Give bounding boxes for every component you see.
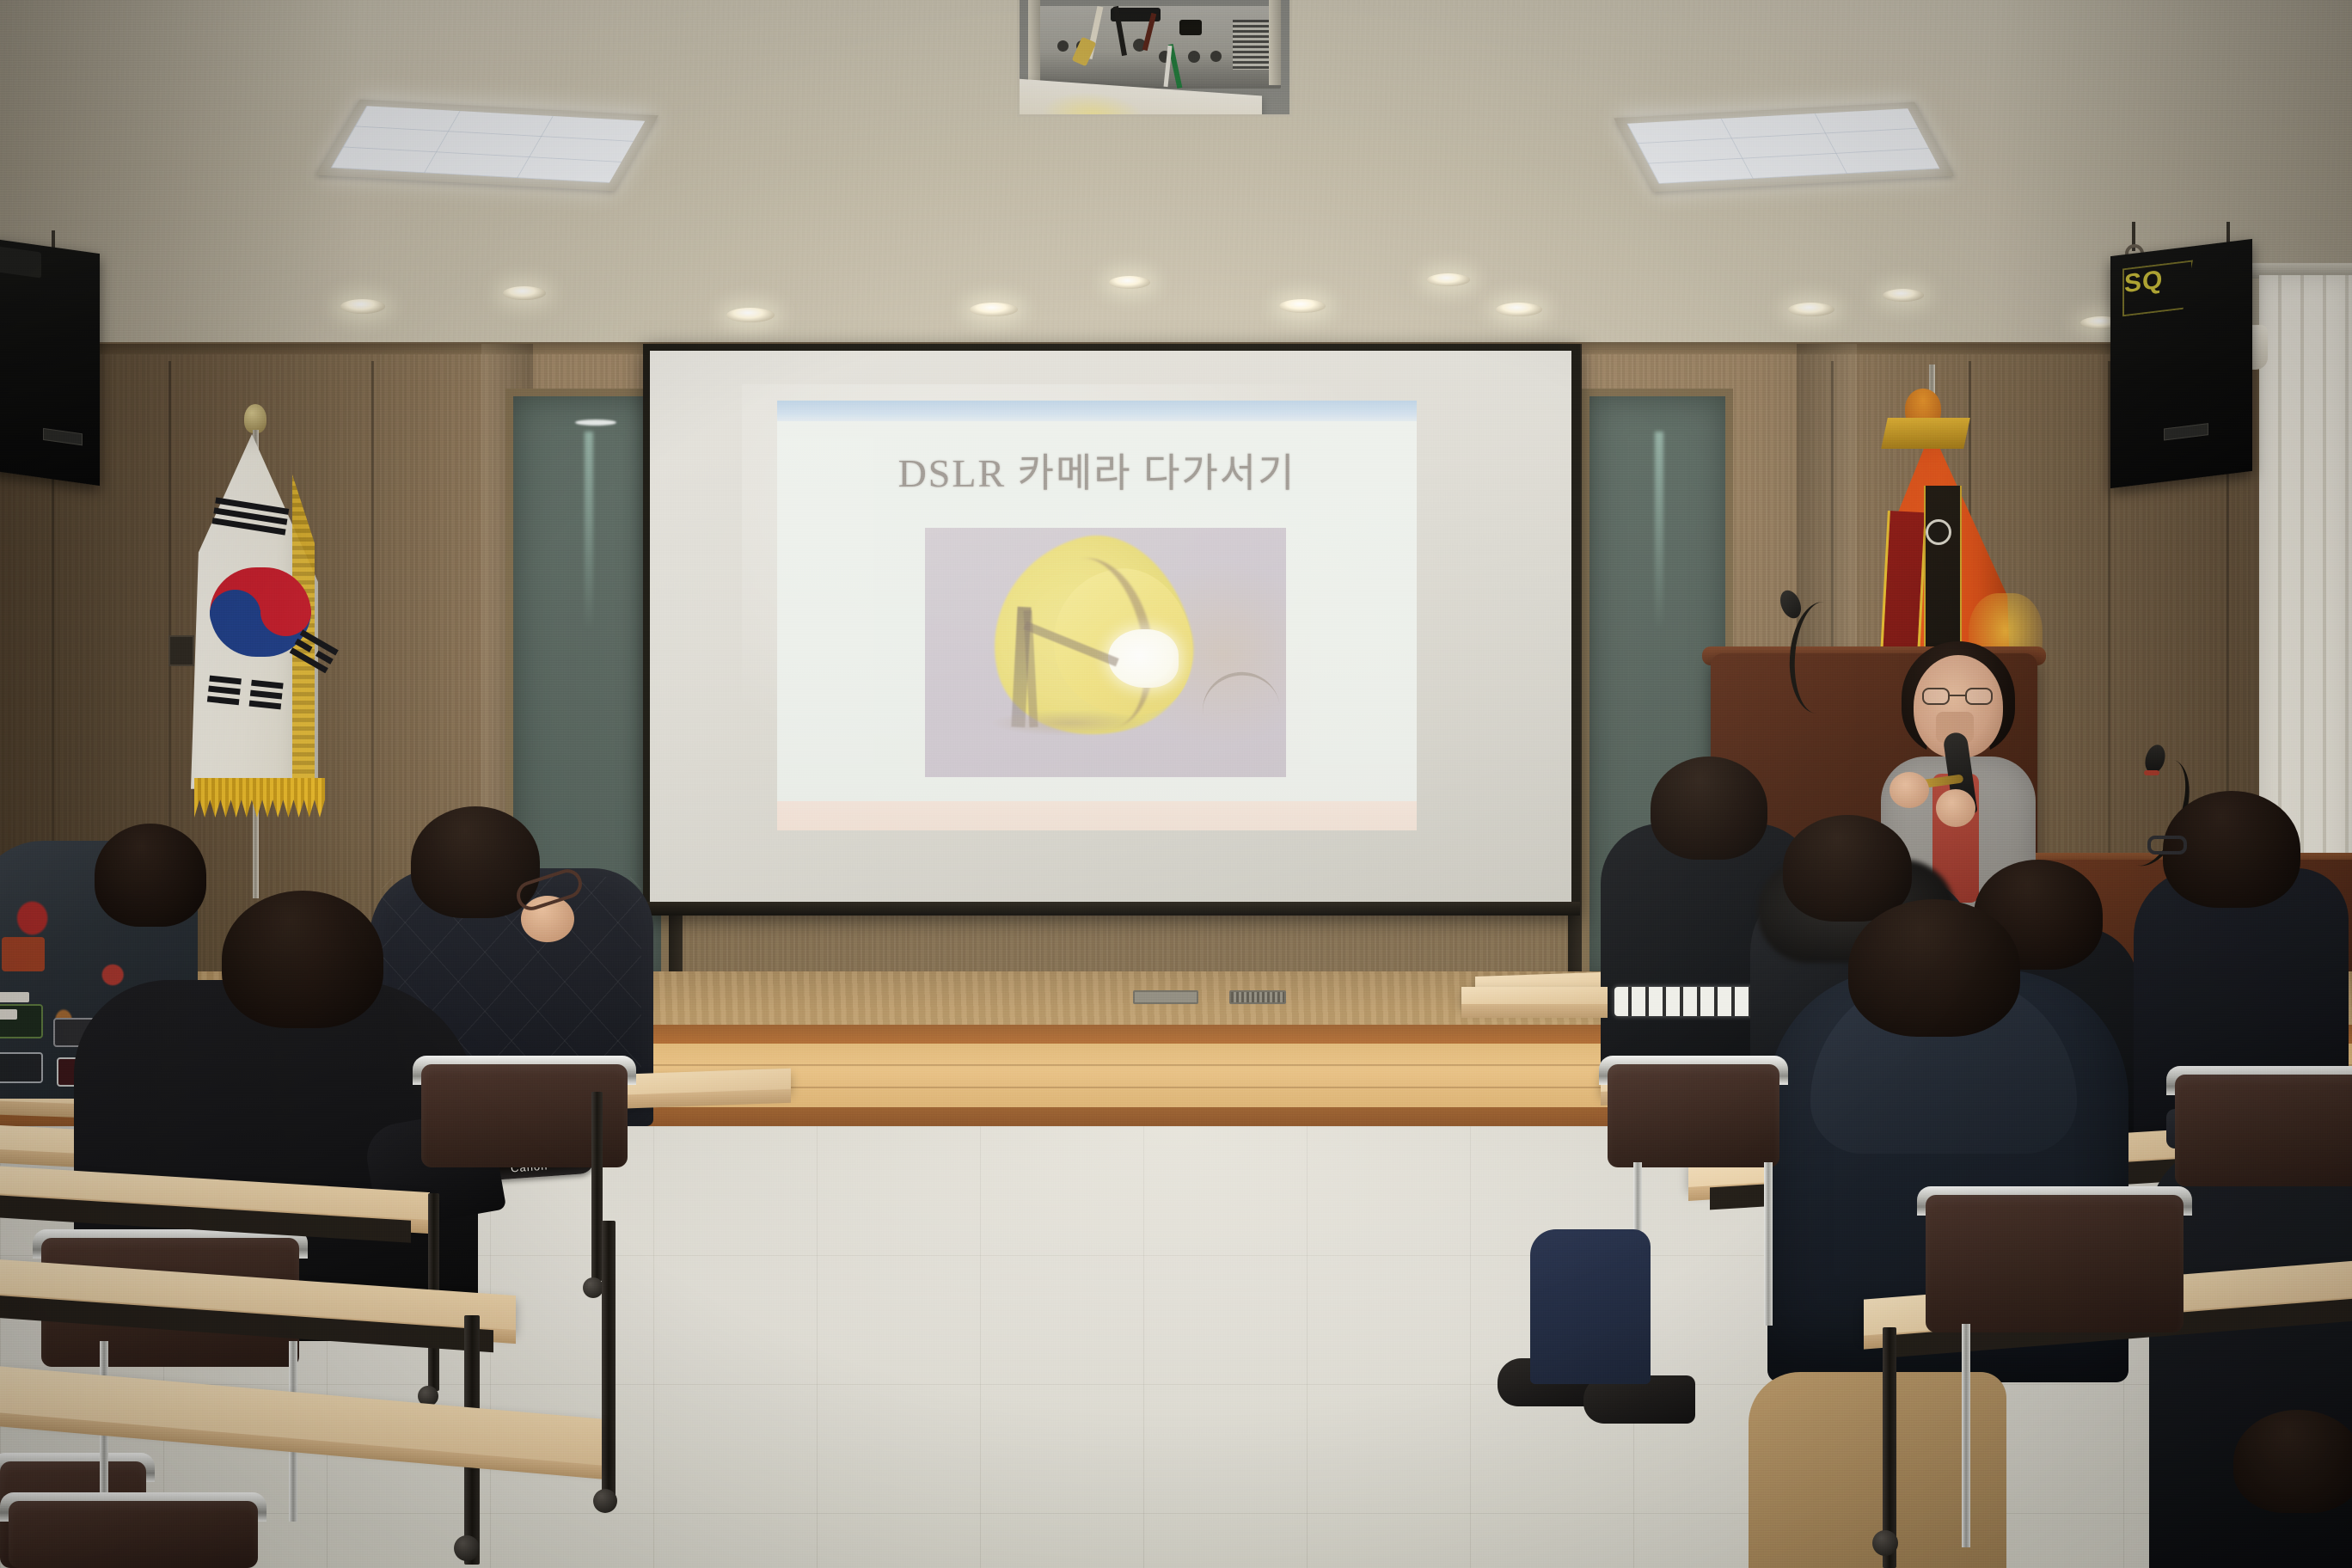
door-light-reflection xyxy=(575,420,616,426)
desk-leg xyxy=(602,1221,616,1504)
chair-backrest xyxy=(1608,1064,1779,1167)
chair-right-1[interactable] xyxy=(1926,1195,2184,1332)
chair-left-4[interactable] xyxy=(9,1501,258,1568)
desk-right-far xyxy=(1461,987,1608,1006)
projector-hatch-rail-right xyxy=(1269,0,1281,85)
glasses-bridge xyxy=(1950,695,1965,696)
projector-port-6 xyxy=(1210,51,1222,62)
audience-head xyxy=(1651,756,1767,860)
audience-head xyxy=(2233,1410,2352,1513)
presenter-glasses xyxy=(1922,688,1994,705)
downlight-icon-3 xyxy=(726,308,775,322)
projector-port-1 xyxy=(1057,40,1069,52)
wall-speaker-left xyxy=(0,238,100,486)
audience-head xyxy=(222,891,383,1028)
glass-sheen xyxy=(585,432,593,631)
audience-jeans xyxy=(1530,1229,1651,1384)
desk-edge xyxy=(1461,1004,1608,1018)
screen-bottom-bar xyxy=(643,902,1580,916)
floor-outlet-1[interactable] xyxy=(1133,990,1198,1004)
troffer-lens xyxy=(1627,108,1940,184)
downlight-icon-4 xyxy=(970,303,1018,316)
speaker-badge-plate xyxy=(2164,423,2208,440)
projection-screen-surface: DSLR 카메라 다가서기 xyxy=(650,351,1571,903)
downlight-icon-9 xyxy=(1788,303,1834,316)
downlight-icon-7 xyxy=(1427,273,1470,286)
chair-backrest xyxy=(2175,1075,2352,1186)
slide-bottom-band xyxy=(777,801,1417,830)
jacket-patch-3 xyxy=(0,1052,43,1083)
audience-head xyxy=(1783,815,1912,922)
speaker-badge-plate xyxy=(43,428,83,445)
taeguk-blue-circle xyxy=(210,590,260,638)
glass-sheen xyxy=(1655,432,1663,631)
wall-panel-seam xyxy=(371,361,374,997)
podium-microphone-ring xyxy=(2144,770,2159,775)
speaker-label xyxy=(0,246,41,279)
floor-outlet-2[interactable] xyxy=(1229,990,1286,1004)
chair-leg xyxy=(1764,1162,1773,1326)
ceremonial-flag-seal xyxy=(1926,519,1951,545)
presenter-hand-right xyxy=(1936,789,1975,827)
jacket-text-tag-1 xyxy=(0,992,29,1002)
audience-head xyxy=(95,824,206,927)
slide-top-band xyxy=(777,401,1417,421)
projector-port-5 xyxy=(1188,51,1200,63)
chair-backrest xyxy=(1926,1195,2184,1332)
ceiling-troffer-light-right xyxy=(1614,102,1954,193)
downlight-icon-5 xyxy=(1109,276,1150,289)
slide-photo-lamp xyxy=(925,528,1286,777)
ceiling-troffer-light-left xyxy=(316,100,658,192)
projector-connector xyxy=(1179,20,1202,35)
ceiling-projector-housing xyxy=(1017,0,1292,117)
audience-head xyxy=(1848,899,2020,1037)
wall-outlet[interactable] xyxy=(168,635,194,666)
glasses-left-lens xyxy=(1922,688,1950,705)
lamp-base-shadow xyxy=(992,710,1147,736)
ceremonial-flag-cap xyxy=(1881,418,1970,449)
jacket-text-tag-2 xyxy=(0,1009,17,1020)
glasses-right-lens xyxy=(1965,688,1993,705)
taeguk-red-circle xyxy=(260,588,311,636)
audience-eyeglasses xyxy=(2147,836,2187,854)
presenter-hand-left xyxy=(1890,772,1929,808)
troffer-lens xyxy=(331,106,645,183)
projected-slide: DSLR 카메라 다가서기 xyxy=(777,401,1417,830)
projection-screen: DSLR 카메라 다가서기 xyxy=(643,344,1580,916)
downlight-icon-8 xyxy=(1496,303,1542,316)
speaker-badge-outline xyxy=(2122,260,2193,316)
flagpole-finial-left xyxy=(244,404,266,433)
desk-caster xyxy=(454,1535,480,1561)
jacket-patch-5 xyxy=(2,937,45,971)
projector-vent xyxy=(1233,20,1269,70)
chair-leg xyxy=(1962,1324,1970,1547)
chair-backrest xyxy=(9,1501,258,1568)
desk-caster xyxy=(593,1489,617,1513)
downlight-icon-1 xyxy=(340,299,385,314)
projector-lens-glow xyxy=(1042,89,1145,117)
projector-hatch-rail-left xyxy=(1028,0,1040,85)
wall-speaker-right: SQ xyxy=(2110,239,2252,488)
chair-right-2[interactable] xyxy=(2175,1075,2352,1186)
downlight-icon-6 xyxy=(1279,299,1326,313)
lecture-hall-scene: SQ 〇 ㅅ xyxy=(0,0,2352,1568)
desk-caster xyxy=(583,1277,603,1298)
slide-title: DSLR 카메라 다가서기 xyxy=(777,442,1417,499)
projector-body xyxy=(1028,6,1281,89)
downlight-icon-2 xyxy=(503,286,546,300)
downlight-icon-10 xyxy=(1883,289,1924,302)
desk-caster xyxy=(1872,1530,1898,1556)
chair-right-3[interactable] xyxy=(1608,1064,1779,1167)
